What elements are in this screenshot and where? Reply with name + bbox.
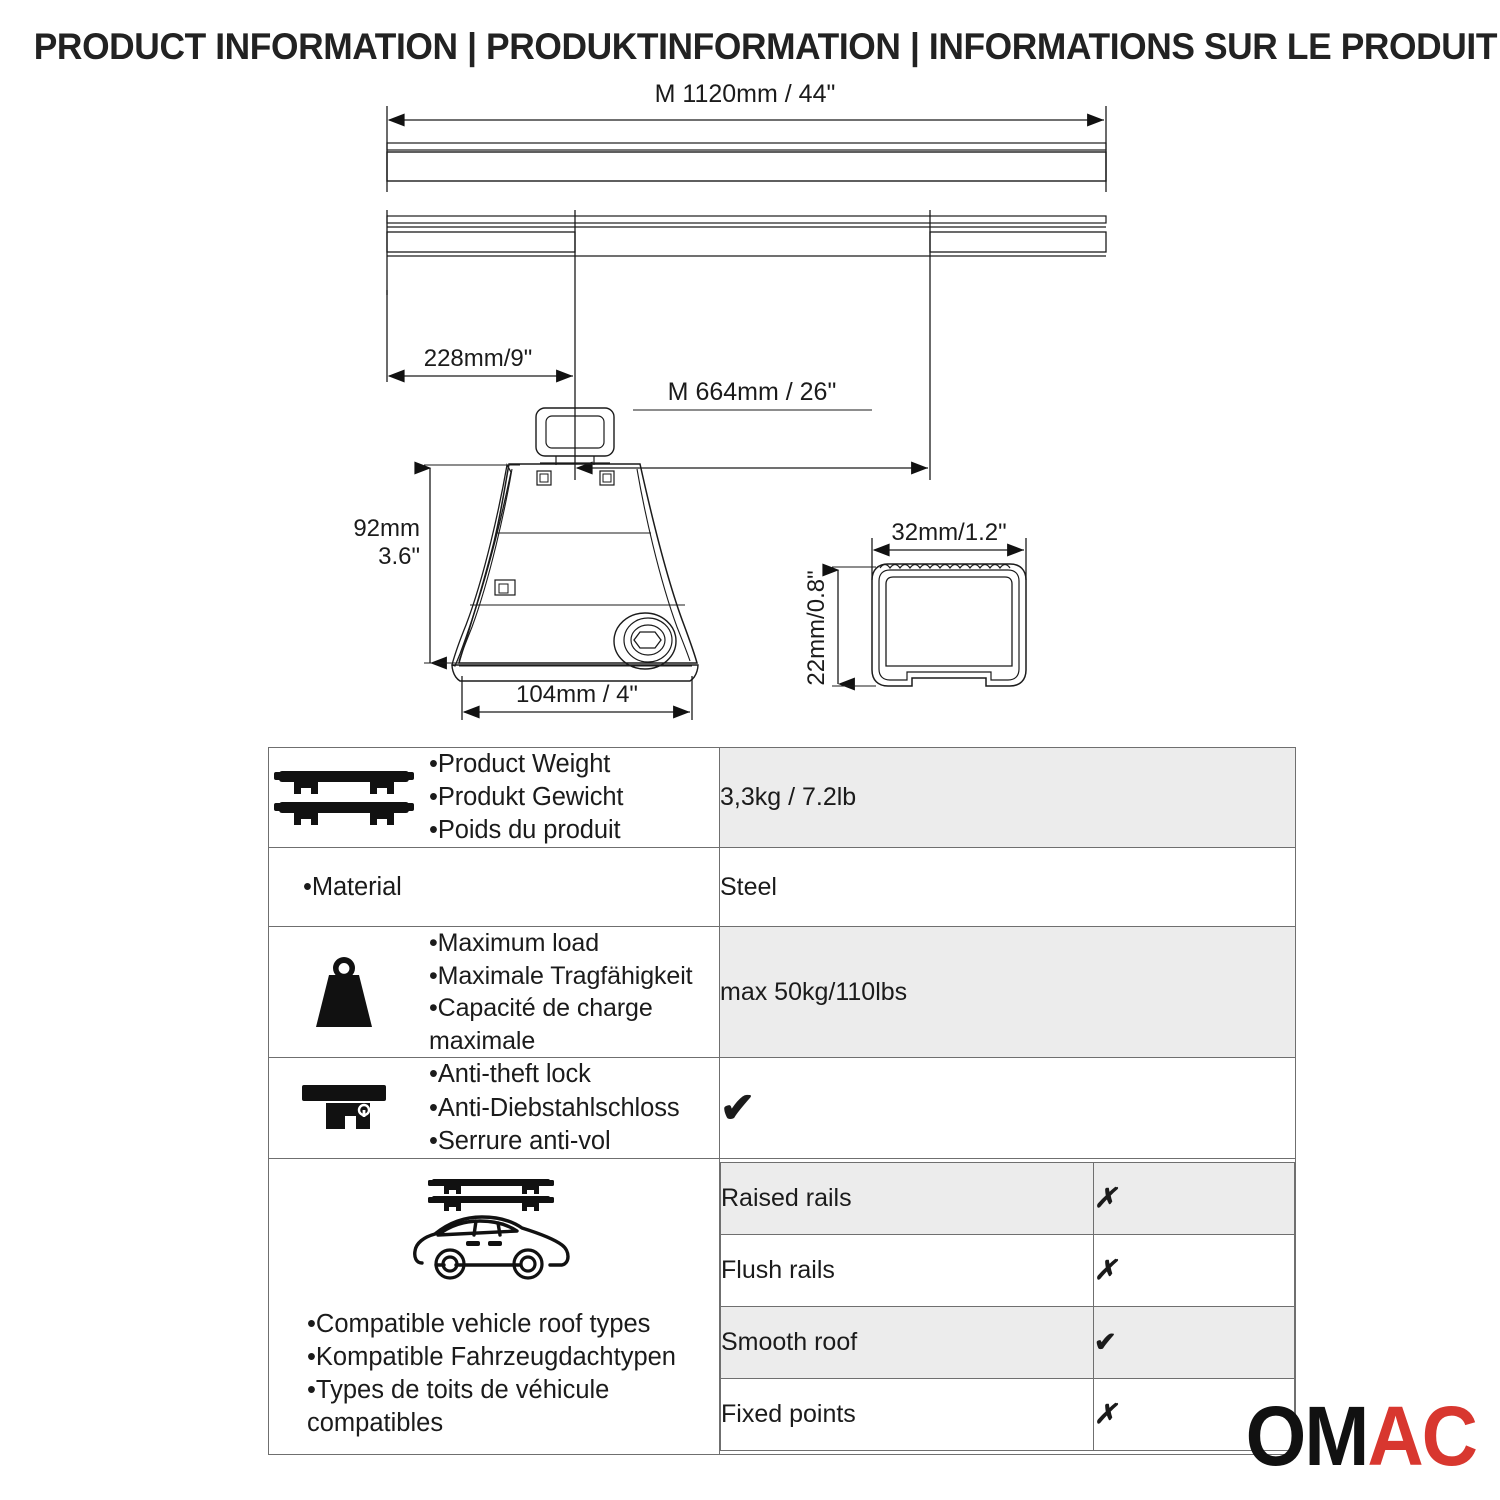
label-line: •Poids du produit [429, 814, 623, 847]
weight-labels: •Product Weight •Produkt Gewicht •Poids … [429, 748, 623, 847]
max-load-labels: •Maximum load •Maximale Tragfähigkeit •C… [429, 927, 719, 1057]
specification-table: •Product Weight •Produkt Gewicht •Poids … [268, 747, 1296, 1455]
table-row: •Anti-theft lock •Anti-Diebstahlschloss … [269, 1058, 1296, 1158]
table-row: •Compatible vehicle roof types •Kompatib… [269, 1158, 1296, 1455]
label-line: •Compatible vehicle roof types [307, 1308, 676, 1341]
roof-type-table: Raised rails ✗ Flush rails ✗ [720, 1162, 1295, 1451]
weight-label-cell: •Product Weight •Produkt Gewicht •Poids … [269, 748, 720, 848]
roof-type-mark: ✗ [1094, 1235, 1295, 1307]
dim-bar-length: M 1120mm / 44" [655, 80, 836, 108]
cross-icon: ✗ [1094, 1255, 1117, 1285]
dim-foot-width: 104mm / 4" [516, 681, 638, 708]
roof-type-name: Fixed points [721, 1379, 1094, 1451]
label-line: •Serrure anti-vol [429, 1125, 680, 1158]
lock-icon [269, 1079, 419, 1137]
check-icon: ✔ [1094, 1327, 1117, 1357]
check-icon: ✔ [720, 1087, 755, 1129]
page-title: PRODUCT INFORMATION | PRODUKTINFORMATION… [34, 26, 1467, 68]
label-line: •Material [303, 871, 402, 904]
roof-type-row: Smooth roof ✔ [721, 1307, 1295, 1379]
material-labels: •Material [269, 871, 402, 904]
roof-type-row: Fixed points ✗ [721, 1379, 1295, 1451]
roof-type-row: Raised rails ✗ [721, 1163, 1295, 1235]
table-row: •Maximum load •Maximale Tragfähigkeit •C… [269, 927, 1296, 1058]
table-row: •Material Steel [269, 848, 1296, 927]
label-line: •Anti-Diebstahlschloss [429, 1092, 680, 1125]
label-line: •Types de toits de véhicule [307, 1374, 676, 1407]
car-with-rack-icon [404, 1175, 584, 1294]
material-value: Steel [720, 848, 1296, 927]
max-load-value: max 50kg/110lbs [720, 927, 1296, 1058]
compatibility-label-cell: •Compatible vehicle roof types •Kompatib… [269, 1158, 720, 1455]
crossbars-icon [269, 767, 419, 829]
label-line: •Capacité de charge maximale [429, 992, 719, 1057]
weight-value: 3,3kg / 7.2lb [720, 748, 1296, 848]
logo-text-om: OM [1246, 1388, 1368, 1483]
compatibility-options-cell: Raised rails ✗ Flush rails ✗ [720, 1158, 1296, 1455]
dim-bar-spacing: M 664mm / 26" [668, 378, 837, 406]
anti-theft-value: ✔ [720, 1058, 1296, 1158]
label-line: •Product Weight [429, 748, 623, 781]
dim-profile-height: 22mm/0.8" [803, 570, 830, 685]
cross-icon: ✗ [1094, 1399, 1117, 1429]
anti-theft-label-cell: •Anti-theft lock •Anti-Diebstahlschloss … [269, 1058, 720, 1158]
table-row: •Product Weight •Produkt Gewicht •Poids … [269, 748, 1296, 848]
material-label-cell: •Material [269, 848, 720, 927]
dim-profile-width: 32mm/1.2" [891, 519, 1006, 546]
omac-logo: OMAC [1246, 1394, 1476, 1478]
roof-type-mark: ✗ [1094, 1163, 1295, 1235]
roof-type-row: Flush rails ✗ [721, 1235, 1295, 1307]
dim-foot-offset: 228mm/9" [424, 345, 533, 372]
roof-type-name: Flush rails [721, 1235, 1094, 1307]
anti-theft-labels: •Anti-theft lock •Anti-Diebstahlschloss … [429, 1058, 680, 1157]
label-line: compatibles [307, 1407, 676, 1440]
roof-type-name: Raised rails [721, 1163, 1094, 1235]
logo-text-ac: AC [1367, 1388, 1476, 1483]
dim-foot-height-mm: 92mm [353, 515, 420, 542]
cross-icon: ✗ [1094, 1183, 1117, 1213]
roof-type-mark: ✔ [1094, 1307, 1295, 1379]
label-line: •Maximale Tragfähigkeit [429, 960, 719, 993]
label-line: •Anti-theft lock [429, 1058, 680, 1091]
weight-icon [269, 955, 419, 1029]
label-line: •Produkt Gewicht [429, 781, 623, 814]
roof-type-name: Smooth roof [721, 1307, 1094, 1379]
max-load-label-cell: •Maximum load •Maximale Tragfähigkeit •C… [269, 927, 720, 1058]
dim-foot-height-in: 3.6" [378, 543, 420, 570]
label-line: •Kompatible Fahrzeugdachtypen [307, 1341, 676, 1374]
label-line: •Maximum load [429, 927, 719, 960]
technical-drawing: M 1120mm / 44" 228mm/9" M 664mm / 26" 92… [0, 80, 1500, 730]
compatibility-labels: •Compatible vehicle roof types •Kompatib… [269, 1308, 676, 1441]
